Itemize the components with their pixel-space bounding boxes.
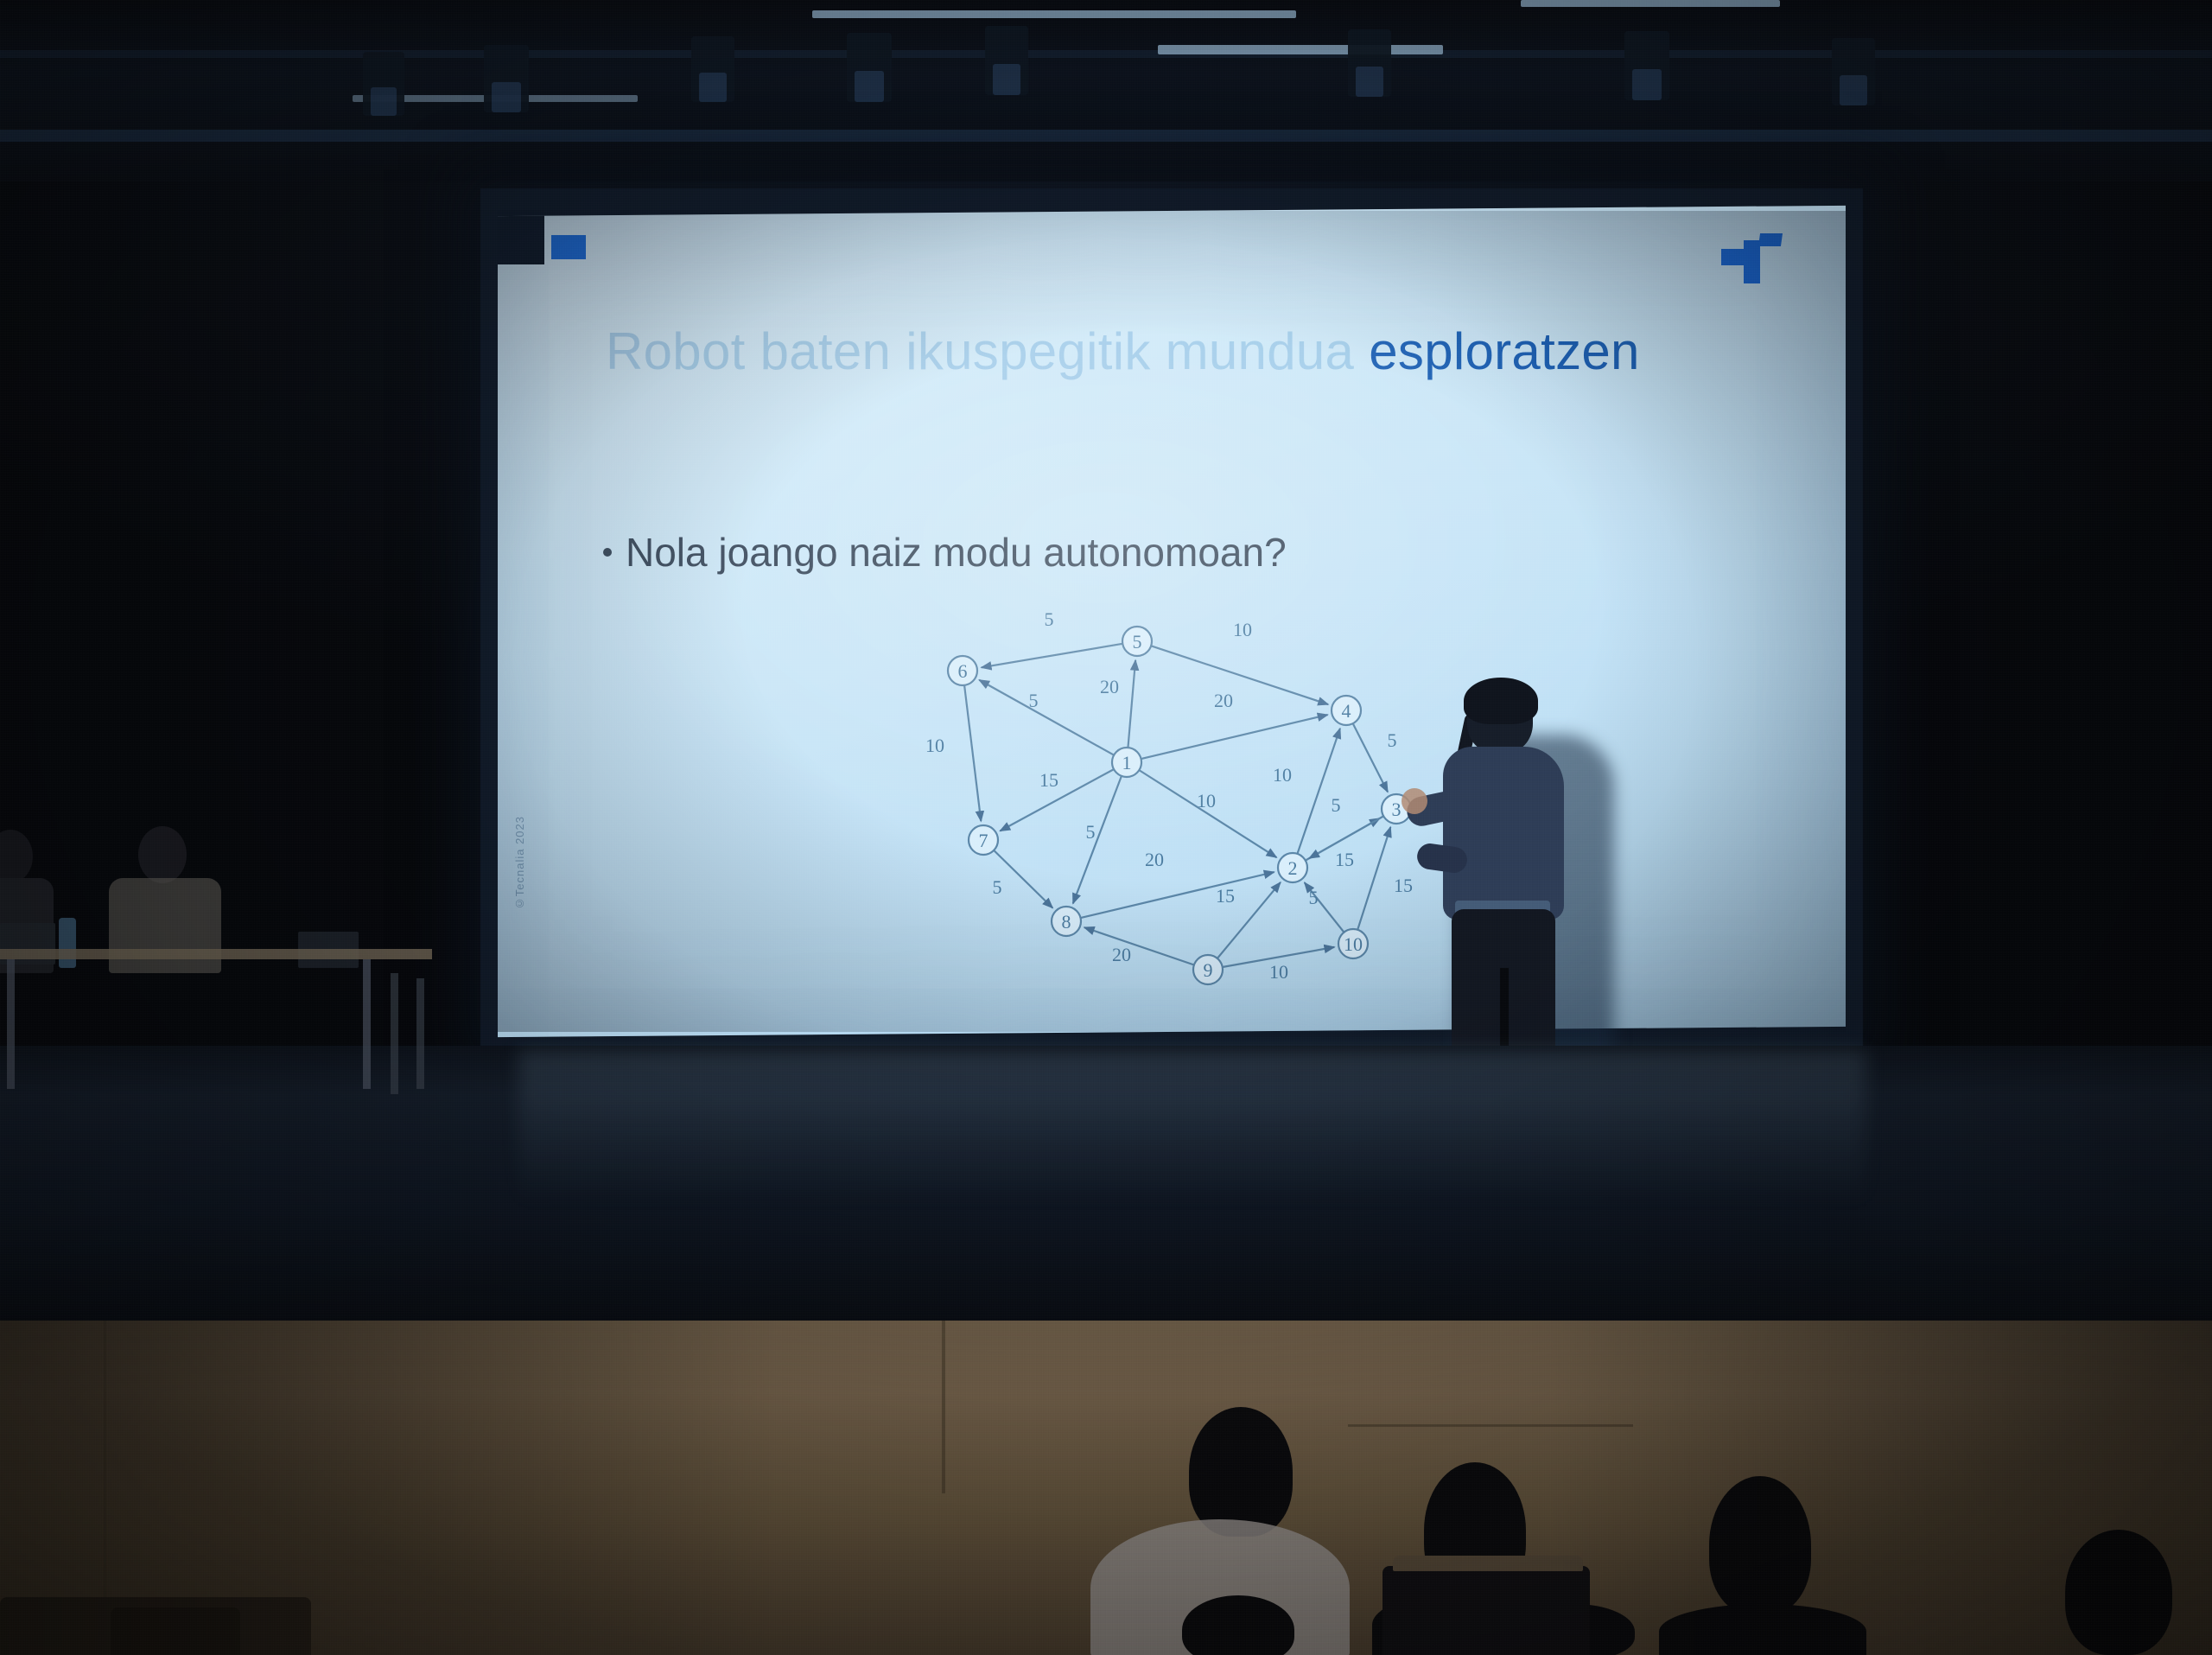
graph-edge-weight: 20 <box>1100 676 1119 697</box>
stage-light <box>847 33 892 102</box>
table-leg <box>7 959 15 1089</box>
floor-reflection <box>518 1050 1866 1206</box>
graph-node-label: 1 <box>1122 752 1132 773</box>
graph-edge <box>994 850 1052 908</box>
graph-node-label: 6 <box>958 660 968 682</box>
tecnalia-logo <box>1721 230 1783 283</box>
photograph-scene: Robot baten ikuspegitik mundua esploratz… <box>0 0 2212 1655</box>
graph-edge-weight: 5 <box>1388 729 1397 751</box>
bullet-text: Nola joango naiz modu autonomoan? <box>626 529 1287 576</box>
graph-edge <box>982 644 1123 668</box>
table-leg <box>363 959 371 1089</box>
slide-bullet-item: Nola joango naiz modu autonomoan? <box>603 529 1287 576</box>
graph-node-label: 2 <box>1288 857 1298 879</box>
title-strong-part: esploratzen <box>1369 322 1640 380</box>
stage-light <box>1348 29 1391 97</box>
graph-edge <box>1081 872 1274 918</box>
graph-node: 5 <box>1122 627 1152 656</box>
graph-edge-weight: 10 <box>1233 619 1252 640</box>
graph-node-label: 4 <box>1342 700 1351 722</box>
graph-node-label: 10 <box>1344 933 1363 955</box>
graph-edge-weight: 20 <box>1112 944 1131 965</box>
graph-node-label: 8 <box>1062 911 1071 933</box>
presenter-hair <box>1464 678 1538 724</box>
stage-light <box>1624 31 1669 100</box>
graph-node: 6 <box>948 656 977 685</box>
graph-edge <box>1141 715 1328 759</box>
slide-corner-notch <box>498 211 544 264</box>
presenter-hand <box>1402 788 1427 814</box>
graph-edge-weight: 5 <box>1086 821 1096 843</box>
graph-edge-weight: 20 <box>1145 849 1164 870</box>
copyright-notice: ©Tecnalia 2023 <box>513 816 526 910</box>
chair <box>391 973 398 1094</box>
chair <box>416 978 424 1089</box>
graph-edge-weight: 20 <box>1214 690 1233 711</box>
graph-node: 1 <box>1112 748 1141 777</box>
graph-node-label: 5 <box>1133 631 1142 652</box>
graph-edge-weight: 5 <box>1045 608 1054 630</box>
graph-node: 10 <box>1338 929 1368 958</box>
graph-node: 4 <box>1332 696 1361 725</box>
graph-node-label: 7 <box>979 830 988 851</box>
wall-shading <box>0 1321 2212 1655</box>
graph-edge <box>1073 776 1122 904</box>
graph-node-label: 9 <box>1204 959 1213 981</box>
graph-edge-weight: 15 <box>1335 849 1354 870</box>
panel-table-area <box>0 821 458 1236</box>
graph-edge-weight: 5 <box>1332 794 1341 816</box>
stage-light <box>691 36 734 102</box>
graph-edge <box>979 680 1114 755</box>
graph-node: 8 <box>1052 907 1081 936</box>
stage-light <box>985 26 1028 95</box>
graph-edge-weight: 10 <box>925 735 944 756</box>
graph-edge-weight: 5 <box>1029 690 1039 711</box>
graph-node: 7 <box>969 825 998 855</box>
graph-edge <box>1353 723 1388 792</box>
graph-edge-weight: 15 <box>1039 769 1058 791</box>
graph-edge-weight: 5 <box>993 876 1002 898</box>
graph-edge-weight: 5 <box>1309 887 1319 908</box>
graph-node-label: 3 <box>1392 799 1402 820</box>
graph-diagram: 12345678910 5102051020155101055155202015… <box>878 617 1483 997</box>
projection-screen: Robot baten ikuspegitik mundua esploratz… <box>498 206 1846 1037</box>
graph-edge <box>1357 827 1390 930</box>
graph-edge <box>1151 646 1328 704</box>
graph-edge <box>1139 770 1276 857</box>
page-title: Robot baten ikuspegitik mundua esploratz… <box>606 321 1640 381</box>
graph-edge-weight: 10 <box>1197 790 1216 812</box>
graph-edge-weight: 10 <box>1269 961 1288 983</box>
presenter-torso <box>1443 747 1564 920</box>
graph-edge <box>1084 927 1194 964</box>
title-faded-part: Robot baten ikuspegitik mundua <box>606 322 1354 380</box>
graph-edge <box>964 685 981 821</box>
ceiling-truss <box>0 0 2212 181</box>
stage-light <box>484 45 529 112</box>
graph-edge-weight: 10 <box>1273 764 1292 786</box>
graph-node: 2 <box>1278 853 1307 882</box>
water-bottle <box>59 918 76 968</box>
bullet-dot-icon <box>603 548 612 557</box>
stage-light <box>1832 38 1875 105</box>
graph-edge <box>1297 729 1339 854</box>
graph-edge-weight: 15 <box>1216 885 1235 907</box>
stage-light <box>363 52 404 116</box>
graph-node: 9 <box>1193 955 1223 984</box>
table-surface <box>0 949 432 959</box>
accent-square <box>551 235 586 259</box>
graph-edge <box>1128 660 1135 748</box>
